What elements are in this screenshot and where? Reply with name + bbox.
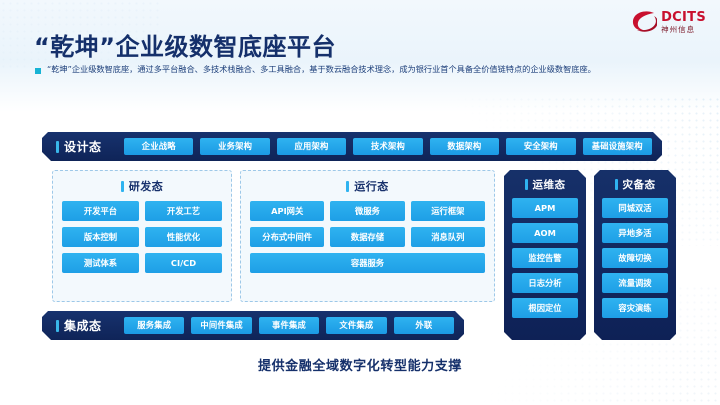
integration-chip-file[interactable]: 文件集成 xyxy=(326,317,386,334)
slide-canvas: DCITS 神州信息 “乾坤”企业级数智底座平台 “乾坤”企业级数智底座，通过多… xyxy=(0,0,720,405)
dr-cell-remote-multi-active[interactable]: 异地多活 xyxy=(602,223,668,243)
accent-tick-icon xyxy=(615,179,618,190)
ops-cell-apm[interactable]: APM xyxy=(512,198,578,218)
accent-tick-icon xyxy=(525,179,528,190)
design-layer-label-group: 设计态 xyxy=(42,138,124,155)
design-layer-bar: 设计态 企业战略 业务架构 应用架构 技术架构 数据架构 安全架构 基础设施架构 xyxy=(42,132,662,161)
ops-panel: 运维态 APM AOM 监控告警 日志分析 根因定位 xyxy=(504,170,586,340)
rd-cell-test-system[interactable]: 测试体系 xyxy=(62,253,139,273)
brand-logo: DCITS 神州信息 xyxy=(631,10,706,34)
integration-layer-label-group: 集成态 xyxy=(42,317,124,334)
dr-cell-failover[interactable]: 故障切换 xyxy=(602,248,668,268)
ops-cell-log-analysis[interactable]: 日志分析 xyxy=(512,273,578,293)
ops-panel-stack: APM AOM 监控告警 日志分析 根因定位 xyxy=(512,198,578,318)
ops-panel-label: 运维态 xyxy=(533,177,566,192)
ops-panel-header: 运维态 xyxy=(512,177,578,192)
dr-cell-dr-drill[interactable]: 容灾演练 xyxy=(602,298,668,318)
accent-tick-icon xyxy=(121,181,124,192)
integration-chip-middleware[interactable]: 中间件集成 xyxy=(191,317,251,334)
integration-layer-chips: 服务集成 中间件集成 事件集成 文件集成 外联 xyxy=(124,317,464,334)
runtime-cell-data-storage[interactable]: 数据存储 xyxy=(330,227,404,247)
rd-panel: 研发态 开发平台 开发工艺 版本控制 性能优化 测试体系 CI/CD xyxy=(52,170,232,302)
rd-cell-cicd[interactable]: CI/CD xyxy=(145,253,222,273)
runtime-cell-runtime-framework[interactable]: 运行框架 xyxy=(411,201,485,221)
runtime-panel: 运行态 API网关 微服务 运行框架 分布式中间件 数据存储 消息队列 容器服务 xyxy=(240,170,495,302)
ops-cell-aom[interactable]: AOM xyxy=(512,223,578,243)
ops-cell-root-cause[interactable]: 根因定位 xyxy=(512,298,578,318)
runtime-cell-distributed-middleware[interactable]: 分布式中间件 xyxy=(250,227,324,247)
accent-tick-icon xyxy=(346,181,349,192)
rd-cell-dev-process[interactable]: 开发工艺 xyxy=(145,201,222,221)
design-chip-business-architecture[interactable]: 业务架构 xyxy=(200,138,269,155)
design-chip-infrastructure-architecture[interactable]: 基础设施架构 xyxy=(583,138,652,155)
runtime-panel-label: 运行态 xyxy=(354,178,389,194)
design-chip-enterprise-strategy[interactable]: 企业战略 xyxy=(124,138,193,155)
dr-panel-header: 灾备态 xyxy=(602,177,668,192)
design-layer-chips: 企业战略 业务架构 应用架构 技术架构 数据架构 安全架构 基础设施架构 xyxy=(124,138,662,155)
dr-panel-label: 灾备态 xyxy=(623,177,656,192)
bullet-square-icon xyxy=(35,68,41,74)
logo-text-en: DCITS xyxy=(661,11,706,24)
footer-caption: 提供金融全域数字化转型能力支撑 xyxy=(0,355,720,374)
rd-panel-grid: 开发平台 开发工艺 版本控制 性能优化 测试体系 CI/CD xyxy=(62,201,222,273)
logo-text-cn: 神州信息 xyxy=(661,26,706,34)
design-chip-data-architecture[interactable]: 数据架构 xyxy=(430,138,499,155)
dcits-swoosh-icon xyxy=(631,10,657,34)
runtime-cell-message-queue[interactable]: 消息队列 xyxy=(411,227,485,247)
dr-cell-traffic-scheduling[interactable]: 流量调拨 xyxy=(602,273,668,293)
integration-chip-event[interactable]: 事件集成 xyxy=(259,317,319,334)
accent-tick-icon xyxy=(56,320,59,332)
design-chip-application-architecture[interactable]: 应用架构 xyxy=(277,138,346,155)
rd-cell-dev-platform[interactable]: 开发平台 xyxy=(62,201,139,221)
architecture-diagram: 设计态 企业战略 业务架构 应用架构 技术架构 数据架构 安全架构 基础设施架构… xyxy=(42,132,672,340)
rd-panel-header: 研发态 xyxy=(62,178,222,194)
dr-cell-same-city-active[interactable]: 同城双活 xyxy=(602,198,668,218)
dr-panel-stack: 同城双活 异地多活 故障切换 流量调拨 容灾演练 xyxy=(602,198,668,318)
runtime-cell-api-gateway[interactable]: API网关 xyxy=(250,201,324,221)
design-chip-security-architecture[interactable]: 安全架构 xyxy=(506,138,575,155)
design-layer-label: 设计态 xyxy=(64,138,102,155)
runtime-panel-grid: API网关 微服务 运行框架 分布式中间件 数据存储 消息队列 容器服务 xyxy=(250,201,485,273)
integration-layer-bar: 集成态 服务集成 中间件集成 事件集成 文件集成 外联 xyxy=(42,311,464,340)
integration-chip-service[interactable]: 服务集成 xyxy=(124,317,184,334)
page-subtitle: “乾坤”企业级数智底座，通过多平台融合、多技术栈融合、多工具融合，基于数云融合技… xyxy=(47,64,596,75)
rd-panel-label: 研发态 xyxy=(129,178,164,194)
runtime-panel-header: 运行态 xyxy=(250,178,485,194)
integration-layer-label: 集成态 xyxy=(64,317,102,334)
page-title: “乾坤”企业级数智底座平台 xyxy=(34,27,336,62)
subtitle-row: “乾坤”企业级数智底座，通过多平台融合、多技术栈融合、多工具融合，基于数云融合技… xyxy=(35,64,596,75)
rd-cell-version-control[interactable]: 版本控制 xyxy=(62,227,139,247)
integration-chip-external[interactable]: 外联 xyxy=(394,317,454,334)
accent-tick-icon xyxy=(56,141,59,153)
runtime-cell-container-service[interactable]: 容器服务 xyxy=(250,253,485,273)
ops-cell-monitoring-alert[interactable]: 监控告警 xyxy=(512,248,578,268)
disaster-recovery-panel: 灾备态 同城双活 异地多活 故障切换 流量调拨 容灾演练 xyxy=(594,170,676,340)
runtime-cell-microservice[interactable]: 微服务 xyxy=(330,201,404,221)
design-chip-technical-architecture[interactable]: 技术架构 xyxy=(353,138,422,155)
rd-cell-performance-optimization[interactable]: 性能优化 xyxy=(145,227,222,247)
